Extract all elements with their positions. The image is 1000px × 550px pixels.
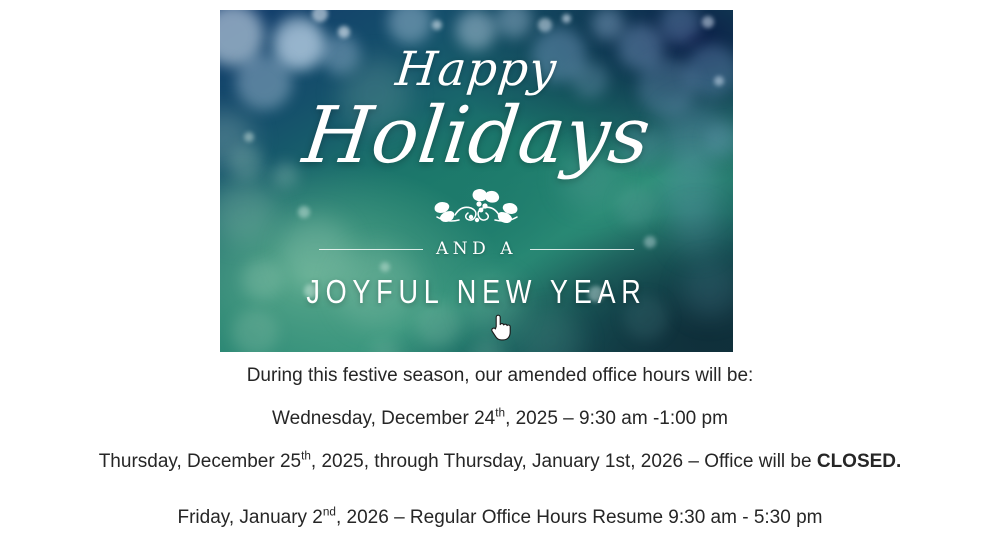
divider-rule-left <box>319 249 423 250</box>
divider-rule-right <box>530 249 634 250</box>
notice-line-1: Wednesday, December 24th, 2025 – 9:30 am… <box>0 408 1000 430</box>
notice-line-1-before: Wednesday, December 24 <box>272 408 495 429</box>
notice-line-2-after: , 2025, through Thursday, January 1st, 2… <box>311 451 817 472</box>
card-background: Happy Holidays <box>220 10 733 352</box>
card-greeting-happy: Happy <box>394 46 560 93</box>
notice-line-3-after: , 2026 – Regular Office Hours Resume 9:3… <box>336 507 823 528</box>
notice-line-1-ordinal: th <box>495 407 505 420</box>
notice-line-2-before: Thursday, December 25 <box>99 451 301 472</box>
notice-line-3-before: Friday, January 2 <box>178 507 323 528</box>
notice-intro-line: During this festive season, our amended … <box>0 365 1000 387</box>
card-subtitle-joyful-new-year: JOYFUL NEW YEAR <box>306 273 646 311</box>
notice-line-1-after: , 2025 – 9:30 am -1:00 pm <box>505 408 728 429</box>
holiday-card-image[interactable]: Happy Holidays <box>220 10 733 352</box>
notice-line-2-bold: CLOSED. <box>817 451 901 472</box>
notice-line-3: Friday, January 2nd, 2026 – Regular Offi… <box>0 507 1000 529</box>
holly-flourish-icon <box>417 187 537 229</box>
divider-label: AND A <box>423 239 530 259</box>
notice-line-2-ordinal: th <box>301 450 311 463</box>
office-hours-notice: During this festive season, our amended … <box>0 352 1000 529</box>
card-greeting-holidays: Holidays <box>299 97 654 175</box>
notice-line-3-ordinal: nd <box>323 506 336 519</box>
holiday-notice-page: Happy Holidays <box>0 0 1000 550</box>
notice-line-2: Thursday, December 25th, 2025, through T… <box>0 451 1000 473</box>
and-a-divider: AND A <box>220 239 733 259</box>
